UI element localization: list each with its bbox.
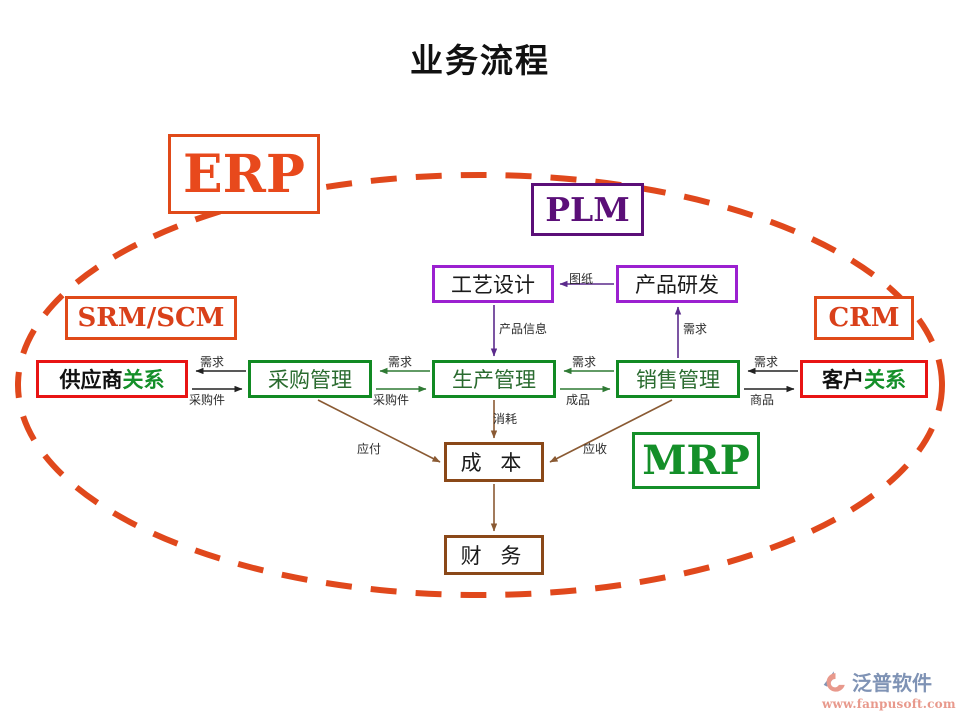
edge-label-consume: 消耗 <box>493 410 517 427</box>
label-box-crm: CRM <box>814 296 914 340</box>
node-purchase-management: 采购管理 <box>248 360 372 398</box>
node-customer-head: 客户 <box>822 364 864 394</box>
edge-label-product-info: 产品信息 <box>499 320 547 337</box>
node-customer-relations: 客户关系 <box>800 360 928 398</box>
node-customer-tail: 关系 <box>864 364 906 394</box>
edge-label-production-finished: 成品 <box>566 391 590 408</box>
logo-row: 泛普软件 <box>822 666 954 696</box>
node-finance: 财 务 <box>444 535 544 575</box>
node-cost: 成 本 <box>444 442 544 482</box>
edge-label-receivable: 应收 <box>583 440 607 457</box>
edge-label-supplier-parts: 采购件 <box>189 391 225 408</box>
logo-name: 泛普软件 <box>852 667 932 696</box>
edge-label-purchase-demand: 需求 <box>388 353 412 370</box>
edge-label-customer-goods: 商品 <box>750 391 774 408</box>
node-production-management: 生产管理 <box>432 360 556 398</box>
edge-label-customer-demand: 需求 <box>754 353 778 370</box>
node-product-rnd: 产品研发 <box>616 265 738 303</box>
edge-label-supplier-demand: 需求 <box>200 353 224 370</box>
edge-label-payable: 应付 <box>357 440 381 457</box>
node-sales-management: 销售管理 <box>616 360 740 398</box>
label-box-erp: ERP <box>168 134 320 214</box>
node-process-design: 工艺设计 <box>432 265 554 303</box>
page-title: 业务流程 <box>0 34 960 82</box>
fanpu-logo-icon <box>822 668 849 695</box>
diagram-canvas: 业务流程 ERP PLM SRM/SCM CRM MRP 供应商关系 采购管理 … <box>0 0 960 720</box>
edge-label-rnd-demand: 需求 <box>683 320 707 337</box>
label-box-srm-scm: SRM/SCM <box>65 296 237 340</box>
edge-label-purchase-parts: 采购件 <box>373 391 409 408</box>
node-supplier-head: 供应商 <box>60 364 123 394</box>
logo-url: www.fanpusoft.com <box>822 697 954 711</box>
watermark-logo: 泛普软件 www.fanpusoft.com <box>822 666 954 714</box>
node-supplier-relations: 供应商关系 <box>36 360 188 398</box>
edge-label-production-demand: 需求 <box>572 353 596 370</box>
edge-label-drawing: 图纸 <box>569 270 593 287</box>
label-box-plm: PLM <box>531 183 644 236</box>
node-supplier-tail: 关系 <box>123 364 165 394</box>
label-box-mrp: MRP <box>632 432 760 489</box>
